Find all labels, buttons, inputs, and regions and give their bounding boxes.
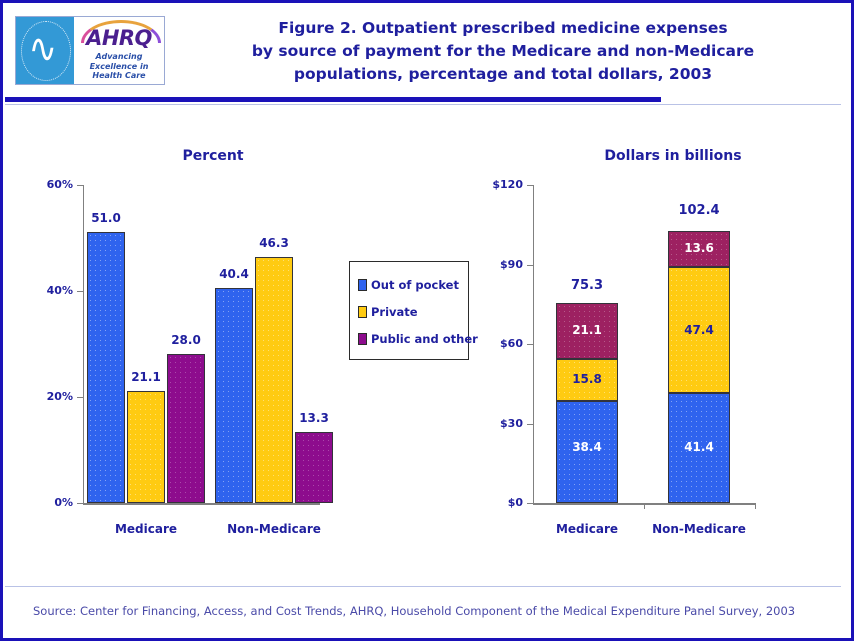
dollars-value-non-medicare-private: 47.4 <box>668 323 730 337</box>
dollars-y-axis <box>533 185 534 504</box>
dollars-xtick-end <box>755 503 756 509</box>
dollars-xlabel-non-medicare: Non-Medicare <box>649 522 749 536</box>
dollars-total-non-medicare: 102.4 <box>666 203 732 218</box>
dollars-value-non-medicare-out-of-pocket: 41.4 <box>668 440 730 454</box>
dollars-ytick-30 <box>527 424 533 425</box>
dollars-ylabel-30: $30 <box>485 417 523 430</box>
dollars-chart: $120 $90 $60 $30 $0 38.4 15.8 21.1 75.3 … <box>3 3 854 563</box>
dollars-xlabel-medicare: Medicare <box>537 522 637 536</box>
dollars-ylabel-120: $120 <box>485 178 523 191</box>
dollars-ytick-60 <box>527 344 533 345</box>
figure-slide: ∿ AHRQ Advancing Excellence in Health Ca… <box>0 0 854 641</box>
dollars-value-medicare-private: 15.8 <box>556 372 618 386</box>
dollars-ylabel-0: $0 <box>485 496 523 509</box>
dollars-ylabel-60: $60 <box>485 337 523 350</box>
dollars-value-medicare-out-of-pocket: 38.4 <box>556 440 618 454</box>
dollars-ytick-90 <box>527 265 533 266</box>
dollars-value-medicare-public-and-other: 21.1 <box>556 323 618 337</box>
source-note: Source: Center for Financing, Access, an… <box>33 604 795 618</box>
dollars-ytick-0 <box>527 503 533 504</box>
dollars-total-medicare: 75.3 <box>555 278 619 293</box>
dollars-ytick-120 <box>527 185 533 186</box>
dollars-ylabel-90: $90 <box>485 258 523 271</box>
footer-divider <box>5 586 841 587</box>
dollars-xtick-sep <box>644 503 645 509</box>
dollars-value-non-medicare-public-and-other: 13.6 <box>668 241 730 255</box>
